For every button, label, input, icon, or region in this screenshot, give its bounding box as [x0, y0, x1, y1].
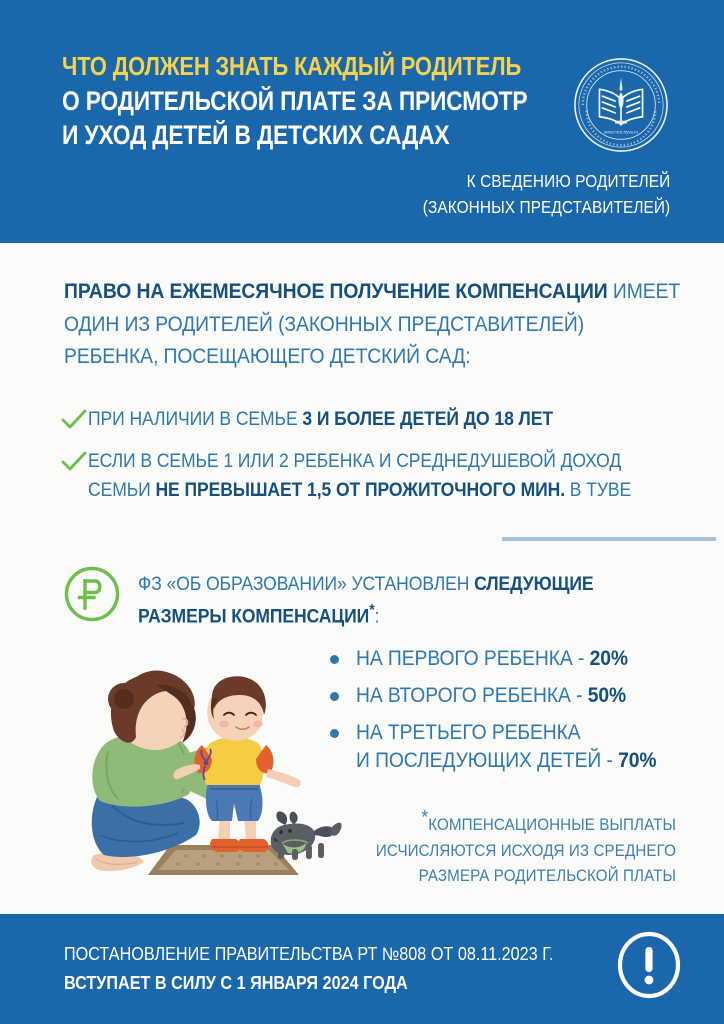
footnote-line-3: РАЗМЕРА РОДИТЕЛЬСКОЙ ПЛАТЫ — [363, 864, 676, 890]
compensation-intro-line-2: РАЗМЕРЫ КОМПЕНСАЦИИ*: — [138, 599, 642, 632]
section-divider — [502, 537, 716, 541]
condition-item-2-text: ЕСЛИ В СЕМЬЕ 1 ИЛИ 2 РЕБЕНКА И СРЕДНЕДУШ… — [88, 447, 691, 504]
conditions-list: ПРИ НАЛИЧИИ В СЕМЬЕ 3 И БОЛЕЕ ДЕТЕЙ ДО 1… — [60, 405, 700, 518]
footnote-line-2: ИСЧИСЛЯЮТСЯ ИСХОДЯ ИЗ СРЕДНЕГО — [363, 839, 676, 865]
compensation-item-3-text: НА ТРЕТЬЕГО РЕБЕНКА И ПОСЛЕДУЮЩИХ ДЕТЕЙ … — [356, 719, 683, 775]
compensation-item-2-line: НА ВТОРОГО РЕБЕНКА - 50% — [356, 682, 626, 710]
footer-legal-text: ПОСТАНОВЛЕНИЕ ПРАВИТЕЛЬСТВА РТ №808 ОТ 0… — [64, 940, 608, 998]
compensation-item-1-value: 20% — [590, 647, 628, 670]
eligibility-lead: ПРАВО НА ЕЖЕМЕСЯЧНОЕ ПОЛУЧЕНИЕ КОМПЕНСАЦ… — [64, 275, 664, 373]
header-subtitle-group: К СВЕДЕНИЮ РОДИТЕЛЕЙ (ЗАКОННЫХ ПРЕДСТАВИ… — [389, 168, 670, 221]
footnote-asterisk: * — [421, 808, 428, 829]
compensation-item-3-line-2: И ПОСЛЕДУЮЩИХ ДЕТЕЙ - 70% — [356, 747, 656, 775]
header-subtitle-line-2: (ЗАКОННЫХ ПРЕДСТАВИТЕЛЕЙ) — [422, 194, 670, 220]
compensation-item-3: НА ТРЕТЬЕГО РЕБЕНКА И ПОСЛЕДУЮЩИХ ДЕТЕЙ … — [330, 719, 720, 775]
footer-line-2: ВСТУПАЕТ В СИЛУ С 1 ЯНВАРЯ 2024 ГОДА — [64, 969, 554, 998]
eligibility-lead-line-1: ПРАВО НА ЕЖЕМЕСЯЧНОЕ ПОЛУЧЕНИЕ КОМПЕНСАЦ… — [64, 275, 604, 308]
footnote-line-1-text: КОМПЕНСАЦИОННЫЕ ВЫПЛАТЫ — [428, 816, 676, 834]
condition-1-plain: ПРИ НАЛИЧИИ В СЕМЬЕ — [88, 408, 302, 430]
compensation-item-2: НА ВТОРОГО РЕБЕНКА - 50% — [330, 682, 720, 710]
header-subtitle-line-1: К СВЕДЕНИЮ РОДИТЕЛЕЙ — [422, 168, 670, 194]
main-content: ПРАВО НА ЕЖЕМЕСЯЧНОЕ ПОЛУЧЕНИЕ КОМПЕНСАЦ… — [0, 243, 724, 914]
condition-item-2-line-2: СЕМЬИ НЕ ПРЕВЫШАЕТ 1,5 ОТ ПРОЖИТОЧНОГО М… — [88, 476, 631, 504]
condition-2-bold: НЕ ПРЕВЫШАЕТ 1,5 ОТ ПРОЖИТОЧНОГО МИН. — [155, 479, 565, 501]
compensation-item-3-line-1: НА ТРЕТЬЕГО РЕБЕНКА — [356, 719, 656, 747]
condition-item-1: ПРИ НАЛИЧИИ В СЕМЬЕ 3 И БОЛЕЕ ДЕТЕЙ ДО 1… — [60, 405, 700, 433]
logo-caption: www.nicrt.rtyva.ru — [604, 129, 639, 134]
compensation-item-2-text: НА ВТОРОГО РЕБЕНКА - 50% — [356, 682, 650, 710]
eligibility-lead-emphasis: ПРАВО НА ЕЖЕМЕСЯЧНОЕ ПОЛУЧЕНИЕ КОМПЕНСАЦ… — [64, 279, 608, 303]
page-title-line-3: И УХОД ДЕТЕЙ В ДЕТСКИХ САДАХ — [62, 120, 492, 151]
infographic-poster: ЧТО ДОЛЖЕН ЗНАТЬ КАЖДЫЙ РОДИТЕЛЬ О РОДИТ… — [0, 0, 724, 1024]
compensation-item-1: НА ПЕРВОГО РЕБЕНКА - 20% — [330, 645, 720, 673]
compensation-intro: ФЗ «ОБ ОБРАЗОВАНИИ» УСТАНОВЛЕН СЛЕДУЮЩИЕ… — [138, 569, 698, 632]
check-icon — [60, 449, 88, 475]
eligibility-lead-line-1-rest: ИМЕЕТ — [608, 279, 681, 303]
eligibility-lead-line-3: РЕБЕНКА, ПОСЕЩАЮЩЕГО ДЕТСКИЙ САД: — [64, 340, 604, 373]
compensation-item-1-text: НА ПЕРВОГО РЕБЕНКА - 20% — [356, 645, 652, 673]
bullet-dot-icon — [330, 729, 339, 738]
compensation-intro-colon: : — [375, 606, 380, 628]
compensation-item-3-label: И ПОСЛЕДУЮЩИХ ДЕТЕЙ - — [356, 749, 618, 772]
compensation-intro-line-1: ФЗ «ОБ ОБРАЗОВАНИИ» УСТАНОВЛЕН СЛЕДУЮЩИЕ — [138, 569, 642, 599]
compensation-item-3-value: 70% — [618, 749, 656, 772]
bullet-dot-icon — [330, 655, 339, 664]
page-title-line-1: ЧТО ДОЛЖЕН ЗНАТЬ КАЖДЫЙ РОДИТЕЛЬ — [62, 52, 492, 82]
dog-shape — [271, 811, 342, 860]
footnote-line-1: *КОМПЕНСАЦИОННЫЕ ВЫПЛАТЫ — [363, 813, 676, 839]
institute-emblem-logo: www.nicrt.rtyva.ru — [572, 56, 670, 154]
compensation-intro-plain: ФЗ «ОБ ОБРАЗОВАНИИ» УСТАНОВЛЕН — [138, 573, 474, 595]
condition-2-plain: СЕМЬИ — [88, 479, 155, 501]
compensation-intro-bold-1: СЛЕДУЮЩИЕ — [474, 573, 593, 595]
footer-line-1: ПОСТАНОВЛЕНИЕ ПРАВИТЕЛЬСТВА РТ №808 ОТ 0… — [64, 940, 554, 969]
condition-item-1-text: ПРИ НАЛИЧИИ В СЕМЬЕ 3 И БОЛЕЕ ДЕТЕЙ ДО 1… — [88, 405, 605, 433]
condition-item-1-line-1: ПРИ НАЛИЧИИ В СЕМЬЕ 3 И БОЛЕЕ ДЕТЕЙ ДО 1… — [88, 405, 553, 433]
compensation-item-1-line: НА ПЕРВОГО РЕБЕНКА - 20% — [356, 645, 628, 673]
eligibility-lead-line-2: ОДИН ИЗ РОДИТЕЛЕЙ (ЗАКОННЫХ ПРЕДСТАВИТЕЛ… — [64, 308, 604, 341]
header-title-group: ЧТО ДОЛЖЕН ЗНАТЬ КАЖДЫЙ РОДИТЕЛЬ О РОДИТ… — [62, 52, 562, 152]
compensation-footnote: *КОМПЕНСАЦИОННЫЕ ВЫПЛАТЫ ИСЧИСЛЯЮТСЯ ИСХ… — [336, 813, 676, 890]
condition-2-tail: В ТУВЕ — [565, 479, 631, 501]
page-title-line-2: О РОДИТЕЛЬСКОЙ ПЛАТЕ ЗА ПРИСМОТР — [62, 86, 492, 117]
exclamation-circle-icon — [615, 931, 683, 999]
footer-banner: ПОСТАНОВЛЕНИЕ ПРАВИТЕЛЬСТВА РТ №808 ОТ 0… — [0, 914, 724, 1024]
compensation-intro-bold-2: РАЗМЕРЫ КОМПЕНСАЦИИ — [138, 606, 369, 628]
header-banner: ЧТО ДОЛЖЕН ЗНАТЬ КАЖДЫЙ РОДИТЕЛЬ О РОДИТ… — [0, 0, 724, 243]
condition-item-2: ЕСЛИ В СЕМЬЕ 1 ИЛИ 2 РЕБЕНКА И СРЕДНЕДУШ… — [60, 447, 700, 504]
compensation-item-1-label: НА ПЕРВОГО РЕБЕНКА - — [356, 647, 590, 670]
compensation-amounts-list: НА ПЕРВОГО РЕБЕНКА - 20% НА ВТОРОГО РЕБЕ… — [330, 645, 720, 785]
check-icon — [60, 407, 88, 433]
condition-item-2-line-1: ЕСЛИ В СЕМЬЕ 1 ИЛИ 2 РЕБЕНКА И СРЕДНЕДУШ… — [88, 447, 631, 475]
compensation-item-2-value: 50% — [588, 684, 626, 707]
mother-dressing-child-illustration — [78, 639, 346, 889]
compensation-item-2-label: НА ВТОРОГО РЕБЕНКА - — [356, 684, 588, 707]
bullet-dot-icon — [330, 692, 339, 701]
condition-1-bold: 3 И БОЛЕЕ ДЕТЕЙ ДО 18 ЛЕТ — [302, 408, 553, 430]
ruble-circle-icon — [63, 565, 121, 623]
